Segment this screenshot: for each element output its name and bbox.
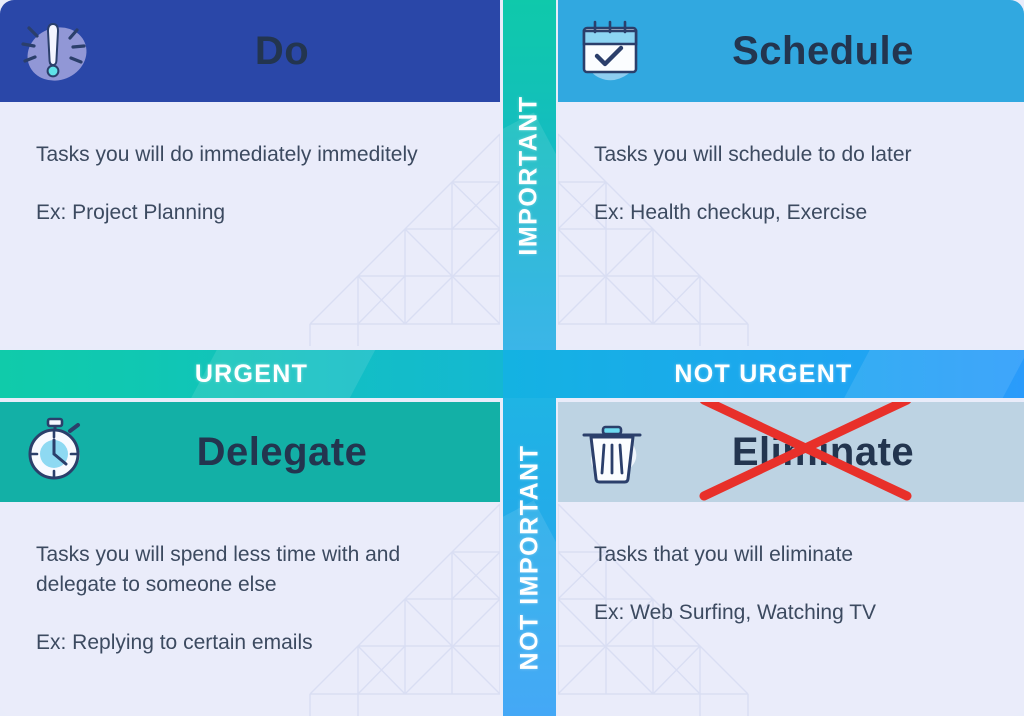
eisenhower-matrix: Do Tasks you will do immediately immedit… bbox=[0, 0, 1024, 716]
quadrant-schedule-example: Ex: Health checkup, Exercise bbox=[594, 198, 994, 228]
quadrant-do-body: Tasks you will do immediately immeditely… bbox=[0, 102, 500, 228]
vertical-axis-band: IMPORTANT NOT IMPORTANT bbox=[503, 0, 556, 716]
quadrant-schedule-description: Tasks you will schedule to do later bbox=[594, 140, 994, 170]
not-important-axis-segment: NOT IMPORTANT bbox=[503, 398, 556, 716]
quadrant-eliminate-example: Ex: Web Surfing, Watching TV bbox=[594, 598, 994, 628]
quadrant-do-title: Do bbox=[98, 29, 500, 74]
not-urgent-axis-segment: NOT URGENT bbox=[503, 350, 1024, 398]
quadrant-eliminate-title: Eliminate bbox=[656, 430, 1024, 475]
urgent-axis-segment: URGENT bbox=[0, 350, 503, 398]
quadrant-delegate-example: Ex: Replying to certain emails bbox=[36, 628, 470, 658]
quadrant-do[interactable]: Do Tasks you will do immediately immedit… bbox=[0, 0, 500, 346]
quadrant-eliminate-description: Tasks that you will eliminate bbox=[594, 540, 994, 570]
quadrant-do-header: Do bbox=[0, 0, 500, 102]
stopwatch-icon bbox=[12, 409, 98, 495]
quadrant-schedule[interactable]: Schedule Tasks you will schedule to do l… bbox=[558, 0, 1024, 346]
quadrant-eliminate-header: Eliminate bbox=[558, 402, 1024, 502]
calendar-check-icon bbox=[570, 8, 656, 94]
urgent-axis-label: URGENT bbox=[195, 360, 308, 389]
quadrant-eliminate-body: Tasks that you will eliminate Ex: Web Su… bbox=[558, 502, 1024, 628]
quadrant-schedule-header: Schedule bbox=[558, 0, 1024, 102]
important-axis-segment: IMPORTANT bbox=[503, 0, 556, 350]
quadrant-do-description: Tasks you will do immediately immeditely bbox=[36, 140, 466, 170]
quadrant-delegate-header: Delegate bbox=[0, 402, 500, 502]
quadrant-delegate-title: Delegate bbox=[98, 430, 500, 475]
quadrant-delegate[interactable]: Delegate Tasks you will spend less time … bbox=[0, 402, 500, 716]
important-axis-label: IMPORTANT bbox=[515, 95, 544, 255]
quadrant-do-example: Ex: Project Planning bbox=[36, 198, 470, 228]
quadrant-delegate-body: Tasks you will spend less time with and … bbox=[0, 502, 500, 658]
trash-can-icon bbox=[570, 409, 656, 495]
quadrant-eliminate[interactable]: Eliminate Tasks that you will eliminate … bbox=[558, 402, 1024, 716]
quadrant-delegate-description: Tasks you will spend less time with and … bbox=[36, 540, 466, 600]
exclamation-mark-icon bbox=[12, 8, 98, 94]
quadrant-schedule-title: Schedule bbox=[656, 29, 1024, 74]
quadrant-schedule-body: Tasks you will schedule to do later Ex: … bbox=[558, 102, 1024, 228]
not-important-axis-label: NOT IMPORTANT bbox=[515, 444, 544, 670]
not-urgent-axis-label: NOT URGENT bbox=[674, 360, 852, 389]
